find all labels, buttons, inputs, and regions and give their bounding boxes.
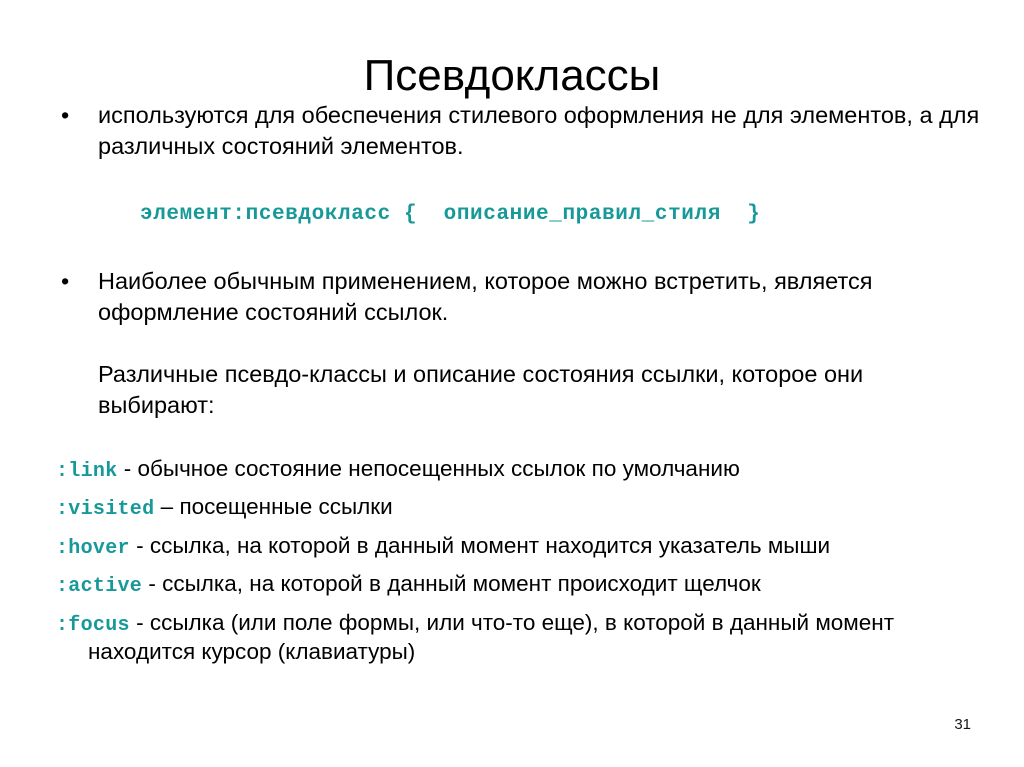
bullet-item-text: Наиболее обычным применением, которое мо… <box>98 268 872 325</box>
bullet-dot-icon: • <box>61 100 69 131</box>
pseudo-class-name: :focus <box>56 614 130 637</box>
body-content: • используются для обеспечения стилевого… <box>56 100 986 171</box>
bullet-item-text: используются для обеспечения стилевого о… <box>98 102 979 159</box>
pseudo-class-description: посещенные ссылки <box>179 494 392 519</box>
page-title: Псевдоклассы <box>0 53 1024 99</box>
list-item: :hover - ссылка, на которой в данный мом… <box>56 532 1006 561</box>
list-item: :active - ссылка, на которой в данный мо… <box>56 570 1006 599</box>
pseudo-class-description: ссылка, на которой в данный момент проис… <box>162 571 761 596</box>
pseudo-class-separator: - <box>142 571 162 596</box>
pseudo-class-name: :active <box>56 575 142 598</box>
pseudo-class-description: ссылка (или поле формы, или что-то еще),… <box>88 610 894 664</box>
pseudo-class-name: :hover <box>56 537 130 560</box>
list-item: :focus - ссылка (или поле формы, или что… <box>56 609 1006 667</box>
pseudo-class-list: :link - обычное состояние непосещенных с… <box>56 455 1006 676</box>
pseudo-class-separator: - <box>130 610 150 635</box>
page-number: 31 <box>954 716 971 733</box>
code-syntax-line: элемент:псевдокласс { описание_правил_ст… <box>140 203 761 226</box>
bullet-dot-icon: • <box>61 266 69 297</box>
pseudo-class-description: обычное состояние непосещенных ссылок по… <box>138 456 740 481</box>
pseudo-class-separator: – <box>154 494 179 519</box>
slide: Псевдоклассы • используются для обеспече… <box>0 0 1024 767</box>
pseudo-class-name: :visited <box>56 498 154 521</box>
pseudo-class-separator: - <box>118 456 138 481</box>
intro-paragraph: Различные псевдо-классы и описание состо… <box>56 359 986 420</box>
bullet-item: • используются для обеспечения стилевого… <box>56 100 986 161</box>
pseudo-class-separator: - <box>130 533 150 558</box>
list-item: :link - обычное состояние непосещенных с… <box>56 455 1006 484</box>
pseudo-class-description: ссылка, на которой в данный момент наход… <box>150 533 830 558</box>
pseudo-class-name: :link <box>56 460 118 483</box>
bullet-item: • Наиболее обычным применением, которое … <box>56 266 986 327</box>
list-item: :visited – посещенные ссылки <box>56 493 1006 522</box>
body-content-secondary: • Наиболее обычным применением, которое … <box>56 266 986 426</box>
